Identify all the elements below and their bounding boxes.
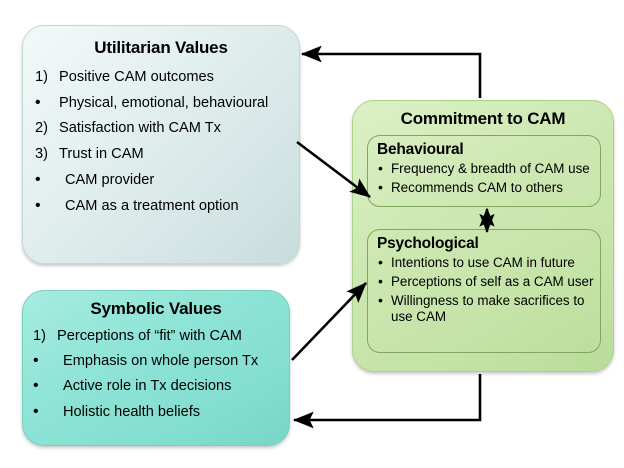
behavioural-title: Behavioural	[377, 141, 600, 159]
list-item: • Intentions to use CAM in future	[378, 255, 600, 271]
list-item-label: Holistic health beliefs	[63, 404, 289, 421]
utilitarian-values-title: Utilitarian Values	[23, 39, 299, 58]
arrow-commitment-to-utilitarian	[302, 54, 480, 98]
list-item: 1) Positive CAM outcomes	[35, 69, 299, 86]
list-item-label: Satisfaction with CAM Tx	[59, 120, 299, 137]
list-item-label: Positive CAM outcomes	[59, 69, 299, 86]
utilitarian-values-list: 1) Positive CAM outcomes • Physical, emo…	[35, 69, 299, 216]
list-item-label: Recommends CAM to others	[391, 180, 600, 196]
bullet-icon: •	[33, 353, 55, 370]
list-item: 3) Trust in CAM	[35, 146, 299, 163]
symbolic-values-list: 1) Perceptions of “fit” with CAM • Empha…	[33, 328, 289, 421]
list-item-label: CAM as a treatment option	[65, 198, 299, 215]
list-item-label: Physical, emotional, behavioural	[59, 95, 299, 112]
bullet-icon: •	[33, 378, 55, 395]
arrow-commitment-to-symbolic	[294, 374, 480, 420]
list-item: • Active role in Tx decisions	[33, 378, 289, 395]
behavioural-subbox[interactable]: Behavioural • Frequency & breadth of CAM…	[367, 135, 601, 207]
bullet-icon: •	[35, 198, 57, 215]
utilitarian-values-box[interactable]: Utilitarian Values 1) Positive CAM outco…	[22, 25, 300, 264]
bullet-icon: •	[378, 161, 390, 176]
list-marker: 1)	[35, 69, 57, 86]
bullet-icon: •	[378, 274, 390, 289]
list-item: • Holistic health beliefs	[33, 404, 289, 421]
list-item-label: Perceptions of self as a CAM user	[391, 274, 600, 290]
bullet-icon: •	[33, 404, 55, 421]
psychological-title: Psychological	[377, 235, 600, 253]
bullet-icon: •	[378, 180, 390, 195]
commitment-to-cam-box[interactable]: Commitment to CAM Behavioural • Frequenc…	[352, 100, 614, 372]
behavioural-list: • Frequency & breadth of CAM use • Recom…	[378, 161, 600, 196]
list-item-label: Willingness to make sacrifices to use CA…	[391, 293, 600, 325]
list-item-label: Perceptions of “fit” with CAM	[57, 328, 289, 345]
symbolic-values-box[interactable]: Symbolic Values 1) Perceptions of “fit” …	[22, 290, 290, 446]
list-item: • Recommends CAM to others	[378, 180, 600, 196]
list-item: • Willingness to make sacrifices to use …	[378, 293, 600, 325]
commitment-to-cam-title: Commitment to CAM	[353, 110, 613, 129]
list-item: • Frequency & breadth of CAM use	[378, 161, 600, 177]
list-item: • CAM provider	[35, 172, 299, 189]
symbolic-values-title: Symbolic Values	[23, 300, 289, 319]
list-item: • Perceptions of self as a CAM user	[378, 274, 600, 290]
list-item: • CAM as a treatment option	[35, 198, 299, 215]
list-marker: 2)	[35, 120, 57, 137]
list-item: • Emphasis on whole person Tx	[33, 353, 289, 370]
list-item: 1) Perceptions of “fit” with CAM	[33, 328, 289, 345]
psychological-subbox[interactable]: Psychological • Intentions to use CAM in…	[367, 229, 601, 353]
list-marker: 3)	[35, 146, 57, 163]
bullet-icon: •	[378, 293, 390, 308]
list-item-label: Active role in Tx decisions	[63, 378, 289, 395]
list-item-label: Trust in CAM	[59, 146, 299, 163]
bullet-icon: •	[35, 172, 57, 189]
list-marker: 1)	[33, 328, 55, 345]
list-item: 2) Satisfaction with CAM Tx	[35, 120, 299, 137]
list-item-label: Frequency & breadth of CAM use	[391, 161, 600, 177]
list-item: • Physical, emotional, behavioural	[35, 95, 299, 112]
list-item-label: Emphasis on whole person Tx	[63, 353, 273, 370]
list-item-label: CAM provider	[65, 172, 299, 189]
bullet-icon: •	[378, 255, 390, 270]
list-item-label: Intentions to use CAM in future	[391, 255, 600, 271]
psychological-list: • Intentions to use CAM in future • Perc…	[378, 255, 600, 325]
diagram-canvas: Utilitarian Values 1) Positive CAM outco…	[0, 0, 624, 468]
bullet-icon: •	[35, 95, 57, 112]
